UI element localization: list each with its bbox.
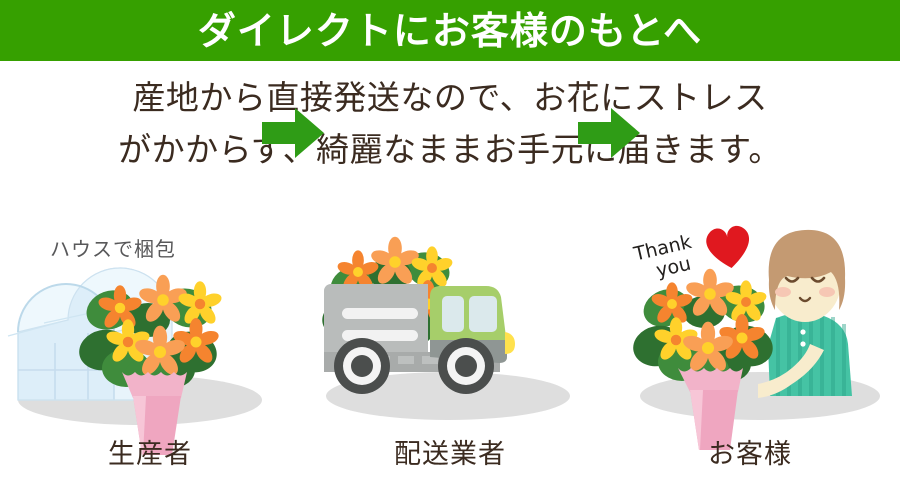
subtitle-block: 産地から直接発送なので、お花にストレス がかからず、綺麗なままお手元に届きます。 <box>0 72 900 176</box>
blush-right <box>819 287 835 297</box>
wheel-front <box>438 338 494 394</box>
page-title: ダイレクトにお客様のもとへ <box>198 12 702 50</box>
stage-label-carrier: 配送業者 <box>300 432 600 471</box>
delivery-truck-illustration <box>300 200 600 430</box>
infographic-page: ダイレクトにお客様のもとへ 産地から直接発送なので、お花にストレス がかからず、… <box>0 0 900 500</box>
heart-icon <box>705 224 753 271</box>
stage-customer: Thank you <box>600 200 900 500</box>
woman-figure <box>758 230 852 398</box>
shirt-button-bottom <box>800 341 805 346</box>
cab-window-front <box>469 296 497 332</box>
shirt-button-top <box>800 329 805 334</box>
potted-flowers-customer <box>629 269 777 450</box>
customer-illustration <box>600 200 900 430</box>
arrow-producer-to-carrier <box>262 105 324 161</box>
potted-flowers-greenhouse <box>75 275 223 455</box>
blush-left <box>775 287 791 297</box>
stage-label-customer: お客様 <box>600 432 900 471</box>
right-arrow-icon <box>578 108 640 158</box>
header-banner: ダイレクトにお客様のもとへ <box>0 0 900 61</box>
subtitle-line-2: がかからず、綺麗なままお手元に届きます。 <box>0 124 900 176</box>
subtitle-line-1: 産地から直接発送なので、お花にストレス <box>0 72 900 124</box>
cargo-stripe-bottom <box>342 330 418 341</box>
greenhouse-note-label: ハウスで梱包 <box>50 233 176 262</box>
cab-window-rear <box>442 296 464 332</box>
arrow-carrier-to-customer <box>578 105 640 161</box>
headlight <box>505 332 515 354</box>
stage-label-producer: 生産者 <box>0 432 300 471</box>
wheel-rear <box>334 338 390 394</box>
stage-carrier: 配送業者 <box>300 200 600 500</box>
cargo-stripe-top <box>342 308 418 319</box>
stage-producer: ハウスで梱包 <box>0 200 300 500</box>
right-arrow-icon <box>262 108 324 158</box>
